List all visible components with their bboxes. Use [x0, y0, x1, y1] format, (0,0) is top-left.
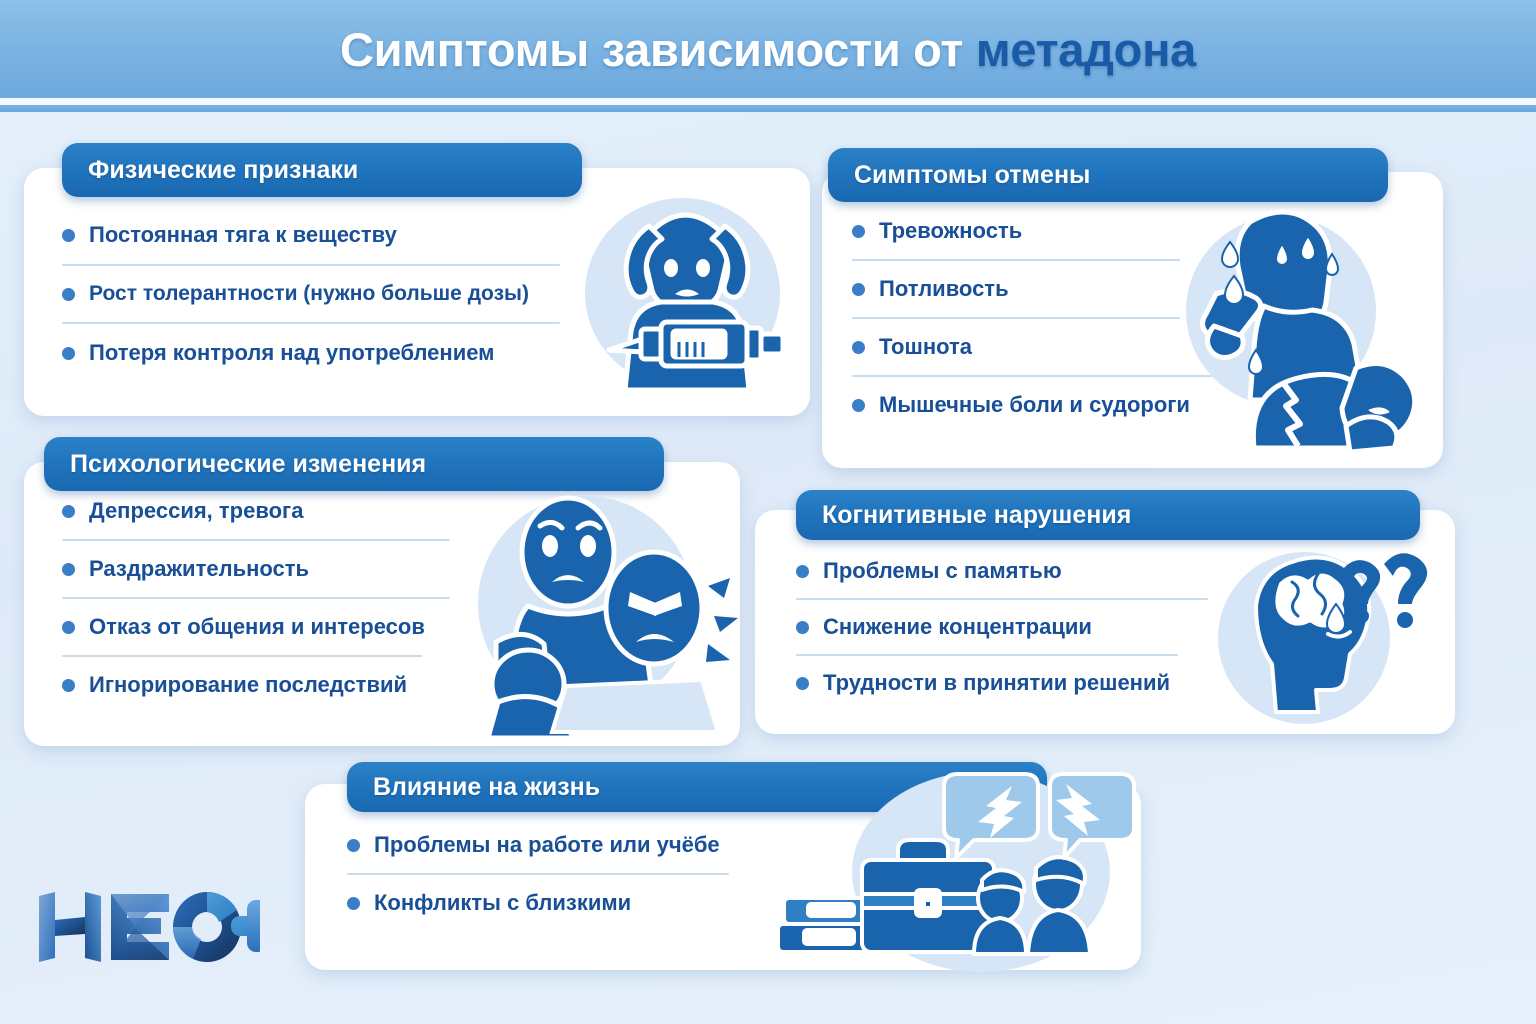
sad-angry-faces-icon	[436, 490, 736, 738]
list-item: Рост толерантности (нужно больше дозы)	[62, 282, 562, 306]
card-header-psychological-changes: Психологические изменения	[44, 437, 664, 491]
card-title-physical-signs: Физические признаки	[88, 156, 358, 185]
page-title-highlight: метадона	[976, 23, 1196, 76]
bullet-icon	[62, 505, 75, 518]
bullet-icon	[62, 229, 75, 242]
list-item: Отказ от общения и интересов	[62, 614, 452, 640]
list-item: Трудности в принятии решений	[796, 670, 1211, 696]
card-header-cognitive-impairments: Когнитивные нарушения	[796, 490, 1420, 540]
list-item-label: Потеря контроля над употреблением	[89, 340, 494, 366]
list-item: Проблемы на работе или учёбе	[347, 832, 737, 858]
illustration-head-brain-question	[1212, 548, 1427, 728]
briefcase-books-people-icon	[744, 772, 1134, 967]
list-item-label: Конфликты с близкими	[374, 890, 631, 916]
list-item: Конфликты с близкими	[347, 890, 737, 916]
list-item-label: Тревожность	[879, 218, 1022, 244]
header-divider-white	[0, 98, 1536, 105]
bullet-icon	[852, 399, 865, 412]
illustration-person-headache-syringe	[575, 190, 800, 395]
list-withdrawal-symptoms: Тревожность Потливость Тошнота Мышечные …	[852, 218, 1182, 418]
card-title-withdrawal-symptoms: Симптомы отмены	[854, 161, 1090, 190]
list-item-label: Проблемы на работе или учёбе	[374, 832, 720, 858]
list-divider	[347, 873, 729, 875]
list-divider	[62, 655, 422, 657]
list-item: Тревожность	[852, 218, 1182, 244]
list-cognitive-impairments: Проблемы с памятью Снижение концентрации…	[796, 558, 1211, 696]
list-item-label: Трудности в принятии решений	[823, 670, 1170, 696]
bullet-icon	[347, 897, 360, 910]
card-title-psychological-changes: Психологические изменения	[70, 450, 426, 479]
illustration-person-sweating-cramps	[1178, 198, 1440, 456]
list-item-label: Раздражительность	[89, 556, 309, 582]
list-item: Мышечные боли и судороги	[852, 392, 1182, 418]
list-psychological-changes: Депрессия, тревога Раздражительность Отк…	[62, 498, 452, 698]
bullet-icon	[62, 563, 75, 576]
list-divider	[62, 539, 450, 541]
bullet-icon	[347, 839, 360, 852]
list-item-label: Тошнота	[879, 334, 972, 360]
bullet-icon	[796, 565, 809, 578]
list-item-label: Снижение концентрации	[823, 614, 1092, 640]
list-item-label: Игнорирование последствий	[89, 672, 407, 698]
bullet-icon	[62, 347, 75, 360]
page-title: Симптомы зависимости от метадона	[340, 22, 1196, 77]
bullet-icon	[62, 679, 75, 692]
list-item-label: Отказ от общения и интересов	[89, 614, 425, 640]
list-divider	[796, 598, 1208, 600]
list-divider	[852, 375, 1212, 377]
bullet-icon	[62, 288, 75, 301]
page-header: Симптомы зависимости от метадона	[0, 0, 1536, 98]
page-title-main: Симптомы зависимости от	[340, 23, 976, 76]
list-item: Проблемы с памятью	[796, 558, 1211, 584]
logo-neo-plus	[35, 890, 260, 964]
bullet-icon	[62, 621, 75, 634]
card-title-cognitive-impairments: Когнитивные нарушения	[822, 501, 1131, 530]
head-brain-question-icon	[1212, 548, 1427, 728]
list-divider	[62, 322, 560, 324]
list-divider	[852, 317, 1180, 319]
list-item: Снижение концентрации	[796, 614, 1211, 640]
list-item-label: Мышечные боли и судороги	[879, 392, 1190, 418]
neo-plus-logo-icon	[35, 890, 260, 964]
bullet-icon	[852, 225, 865, 238]
illustration-sad-angry-faces	[436, 490, 736, 738]
list-item-label: Рост толерантности (нужно больше дозы)	[89, 282, 529, 306]
list-divider	[62, 264, 560, 266]
bullet-icon	[852, 341, 865, 354]
bullet-icon	[796, 677, 809, 690]
list-divider	[852, 259, 1180, 261]
list-item: Депрессия, тревога	[62, 498, 452, 524]
list-physical-signs: Постоянная тяга к веществу Рост толерант…	[62, 222, 562, 366]
list-item: Постоянная тяга к веществу	[62, 222, 562, 248]
list-item-label: Проблемы с памятью	[823, 558, 1062, 584]
list-item: Тошнота	[852, 334, 1182, 360]
list-divider	[62, 597, 450, 599]
bullet-icon	[796, 621, 809, 634]
list-item: Потеря контроля над употреблением	[62, 340, 562, 366]
list-item: Потливость	[852, 276, 1182, 302]
card-header-withdrawal-symptoms: Симптомы отмены	[828, 148, 1388, 202]
list-item: Игнорирование последствий	[62, 672, 452, 698]
list-life-impact: Проблемы на работе или учёбе Конфликты с…	[347, 832, 737, 916]
bullet-icon	[852, 283, 865, 296]
list-divider	[796, 654, 1178, 656]
list-item-label: Постоянная тяга к веществу	[89, 222, 397, 248]
list-item-label: Депрессия, тревога	[89, 498, 303, 524]
illustration-briefcase-books-people	[744, 772, 1134, 967]
card-header-physical-signs: Физические признаки	[62, 143, 582, 197]
list-item: Раздражительность	[62, 556, 452, 582]
list-item-label: Потливость	[879, 276, 1009, 302]
person-sweating-cramps-icon	[1178, 198, 1440, 456]
header-divider-blue	[0, 105, 1536, 112]
card-title-life-impact: Влияние на жизнь	[373, 773, 600, 802]
person-headache-syringe-icon	[575, 190, 800, 395]
